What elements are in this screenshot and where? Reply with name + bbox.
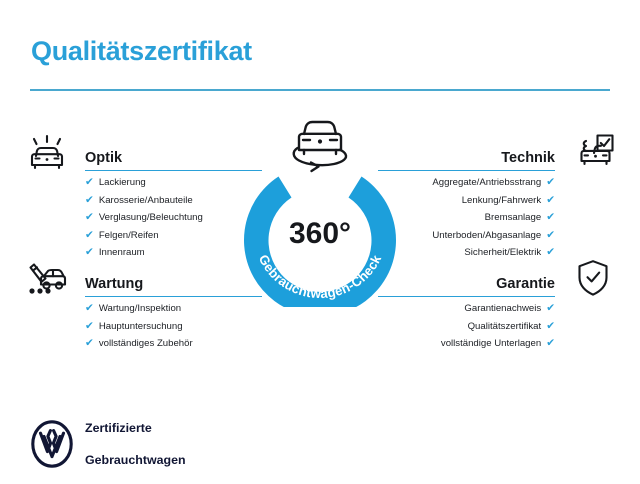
section-garantie-title: Garantie <box>496 276 555 292</box>
list-item-label: Sicherheit/Elektrik <box>464 247 541 258</box>
list-item: Qualitätszertifikat✔ <box>378 318 555 336</box>
list-item-label: Garantienachweis <box>464 303 541 314</box>
check-icon: ✔ <box>85 192 94 209</box>
check-icon: ✔ <box>85 209 94 226</box>
page-title: Qualitätszertifikat <box>31 36 252 67</box>
car-rotate-360-icon <box>277 114 363 176</box>
badge-ring: 360° Gebrauchtwagen-Check <box>233 155 407 307</box>
list-item-label: vollständige Unterlagen <box>441 338 541 349</box>
title-divider <box>30 89 610 91</box>
section-optik: Optik ✔Lackierung ✔Karosserie/Anbauteile… <box>22 132 262 262</box>
360-check-badge: 360° Gebrauchtwagen-Check <box>233 155 407 307</box>
section-garantie-list: Garantienachweis✔ Qualitätszertifikat✔ v… <box>378 300 618 353</box>
vw-logo <box>31 420 73 468</box>
section-garantie-header: Garantie <box>378 258 618 300</box>
list-item-label: Wartung/Inspektion <box>99 303 181 314</box>
footer-brand: Zertifizierte Gebrauchtwagen <box>31 404 186 484</box>
car-service-tool-icon <box>24 258 70 298</box>
footer-text: Zertifizierte Gebrauchtwagen <box>85 404 186 484</box>
car-shine-icon <box>24 132 70 172</box>
list-item-label: Innenraum <box>99 247 145 258</box>
section-optik-header: Optik <box>22 132 262 174</box>
check-icon: ✔ <box>85 318 94 335</box>
section-wartung-header: Wartung <box>22 258 262 300</box>
list-item-label: vollständiges Zubehör <box>99 338 193 349</box>
section-technik-header: Technik <box>378 132 618 174</box>
section-technik: Technik Aggregate/Antriebsstrang✔ Lenkun… <box>378 132 618 262</box>
check-icon: ✔ <box>546 192 555 209</box>
check-icon: ✔ <box>546 174 555 191</box>
list-item-label: Felgen/Reifen <box>99 230 159 241</box>
list-item-label: Lackierung <box>99 177 146 188</box>
list-item-label: Lenkung/Fahrwerk <box>462 195 541 206</box>
check-icon: ✔ <box>546 227 555 244</box>
section-technik-title: Technik <box>501 150 555 166</box>
check-icon: ✔ <box>546 335 555 352</box>
list-item-label: Unterboden/Abgasanlage <box>432 230 541 241</box>
quality-certificate-page: Qualitätszertifikat Optik <box>0 0 640 480</box>
list-item-label: Hauptuntersuchung <box>99 321 183 332</box>
section-garantie: Garantie Garantienachweis✔ Qualitätszert… <box>378 258 618 353</box>
list-item: vollständige Unterlagen✔ <box>378 335 555 353</box>
list-item-label: Bremsanlage <box>485 212 542 223</box>
list-item-label: Verglasung/Beleuchtung <box>99 212 203 223</box>
section-wartung-list: ✔Wartung/Inspektion ✔Hauptuntersuchung ✔… <box>22 300 262 353</box>
check-icon: ✔ <box>546 209 555 226</box>
section-optik-title: Optik <box>85 150 122 166</box>
section-optik-list: ✔Lackierung ✔Karosserie/Anbauteile ✔Verg… <box>22 174 262 262</box>
check-icon: ✔ <box>546 300 555 317</box>
badge-center-label: 360° <box>289 217 351 250</box>
list-item-label: Qualitätszertifikat <box>468 321 542 332</box>
section-wartung: Wartung ✔Wartung/Inspektion ✔Hauptunters… <box>22 258 262 353</box>
check-icon: ✔ <box>546 318 555 335</box>
check-icon: ✔ <box>85 174 94 191</box>
footer-line-2: Gebrauchtwagen <box>85 452 186 468</box>
list-item: ✔Hauptuntersuchung <box>85 318 262 336</box>
list-item-label: Karosserie/Anbauteile <box>99 195 193 206</box>
section-technik-list: Aggregate/Antriebsstrang✔ Lenkung/Fahrwe… <box>378 174 618 262</box>
check-icon: ✔ <box>85 335 94 352</box>
footer-line-1: Zertifizierte <box>85 420 186 436</box>
shield-check-icon <box>570 258 616 298</box>
list-item-label: Aggregate/Antriebsstrang <box>432 177 541 188</box>
check-icon: ✔ <box>85 300 94 317</box>
check-icon: ✔ <box>85 227 94 244</box>
section-wartung-title: Wartung <box>85 276 143 292</box>
car-checkbox-icon <box>570 132 616 172</box>
list-item: ✔vollständiges Zubehör <box>85 335 262 353</box>
